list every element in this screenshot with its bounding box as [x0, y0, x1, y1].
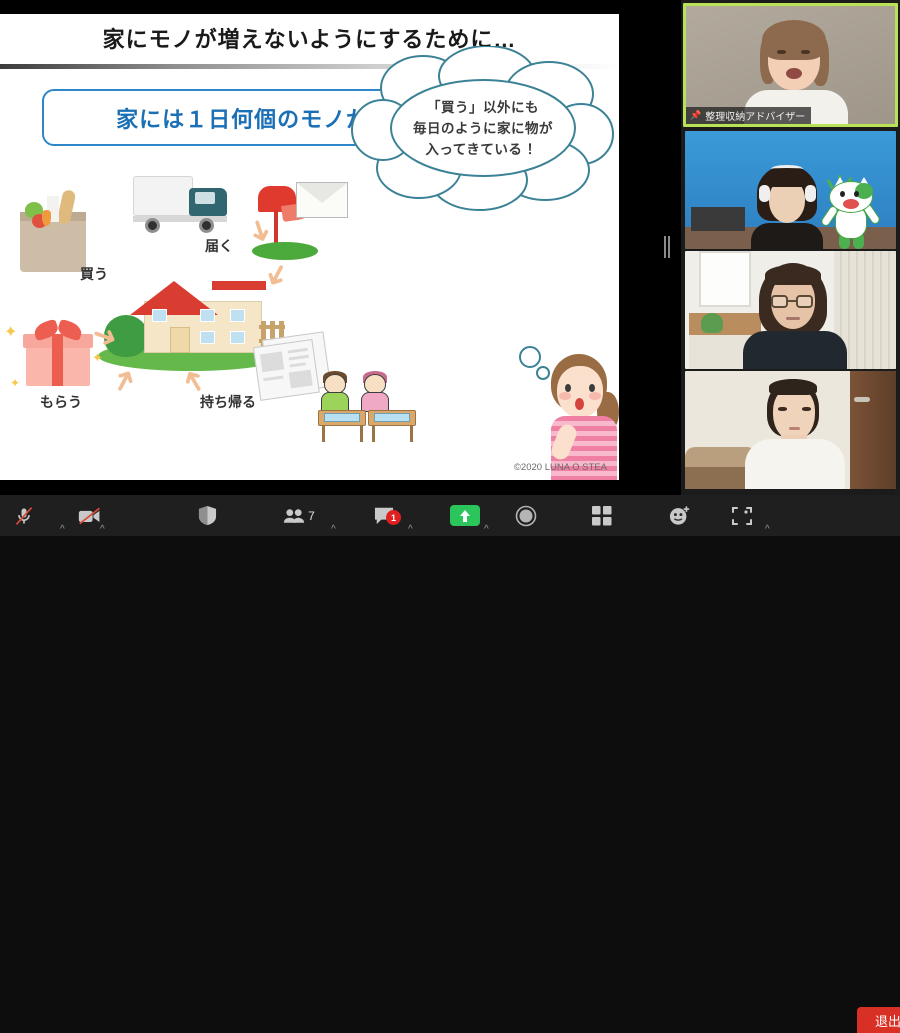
label-bring-home: 持ち帰る	[200, 392, 256, 412]
thought-tail-icon	[513, 346, 553, 382]
share-screen-button[interactable]	[443, 495, 487, 536]
participants-count: 7	[308, 509, 315, 523]
reactions-button[interactable]	[658, 495, 702, 536]
video-tile-3[interactable]	[685, 251, 896, 369]
copyright-notice: ©2020 LUNA O STEA	[514, 462, 607, 473]
video-feed	[685, 251, 896, 369]
video-tile-4[interactable]	[685, 371, 896, 489]
audio-button[interactable]	[2, 495, 46, 536]
shield-icon	[198, 505, 217, 526]
delivery-truck-illustration	[133, 176, 229, 238]
thought-bubble: 「買う」以外にも 毎日のように家に物が 入ってきている ！	[349, 46, 615, 213]
sparkle-icon: ✦	[10, 376, 20, 390]
students-desks-illustration	[318, 370, 426, 446]
breakout-rooms-button[interactable]	[580, 495, 624, 536]
record-icon	[515, 505, 537, 527]
participants-options-caret[interactable]: ^	[331, 509, 336, 550]
stage-divider[interactable]	[655, 0, 681, 495]
apps-options-caret[interactable]: ^	[765, 509, 770, 550]
label-receive: もらう	[40, 392, 82, 412]
share-screen-icon	[450, 505, 480, 526]
microphone-muted-icon	[14, 506, 34, 526]
video-tile-2[interactable]	[685, 131, 896, 249]
video-options-caret[interactable]: ^	[100, 509, 105, 550]
participants-filmstrip: 📌 整理収納アドバイザー	[681, 0, 900, 495]
chat-options-caret[interactable]: ^	[408, 509, 413, 550]
breakout-rooms-icon	[592, 506, 612, 526]
shared-screen-stage[interactable]: 家にモノが増えないようにするために… 家には１日何個のモノが入ってくる？ 買う	[0, 0, 681, 495]
meeting-toolbar: ^ ^ 7 ^	[0, 495, 900, 536]
video-feed	[685, 371, 896, 489]
cat-mascot-illustration	[821, 175, 881, 247]
video-off-icon	[78, 506, 102, 526]
sparkle-icon: ✦	[4, 322, 17, 342]
drag-handle[interactable]	[664, 236, 671, 258]
share-options-caret[interactable]: ^	[484, 509, 489, 550]
chat-unread-badge: 1	[386, 510, 401, 525]
participant-name-label: 📌 整理収納アドバイザー	[686, 107, 811, 124]
record-button[interactable]	[504, 495, 548, 536]
apps-icon	[732, 506, 752, 526]
video-button[interactable]	[50, 495, 130, 536]
pin-icon: 📌	[690, 110, 701, 121]
reactions-icon	[669, 505, 691, 526]
thought-bubble-text: 「買う」以外にも 毎日のように家に物が 入ってきている ！	[383, 98, 583, 161]
envelope-illustration	[296, 182, 348, 218]
security-button[interactable]	[185, 495, 229, 536]
apps-button[interactable]	[720, 495, 764, 536]
participants-icon	[283, 508, 305, 524]
presentation-slide: 家にモノが増えないようにするために… 家には１日何個のモノが入ってくる？ 買う	[0, 14, 619, 480]
label-deliver: 届く	[205, 236, 233, 256]
grocery-bag-illustration	[20, 194, 86, 272]
house-illustration	[104, 279, 274, 371]
video-feed	[685, 131, 896, 249]
video-tile-active-speaker[interactable]: 📌 整理収納アドバイザー	[683, 3, 898, 127]
gift-box-illustration	[26, 326, 90, 386]
zoom-meeting-window: 家にモノが増えないようにするために… 家には１日何個のモノが入ってくる？ 買う	[0, 0, 900, 536]
chat-button[interactable]: 1	[362, 495, 406, 536]
participants-button[interactable]: 7	[270, 495, 328, 536]
leave-meeting-button[interactable]: 退出	[857, 1007, 900, 1033]
